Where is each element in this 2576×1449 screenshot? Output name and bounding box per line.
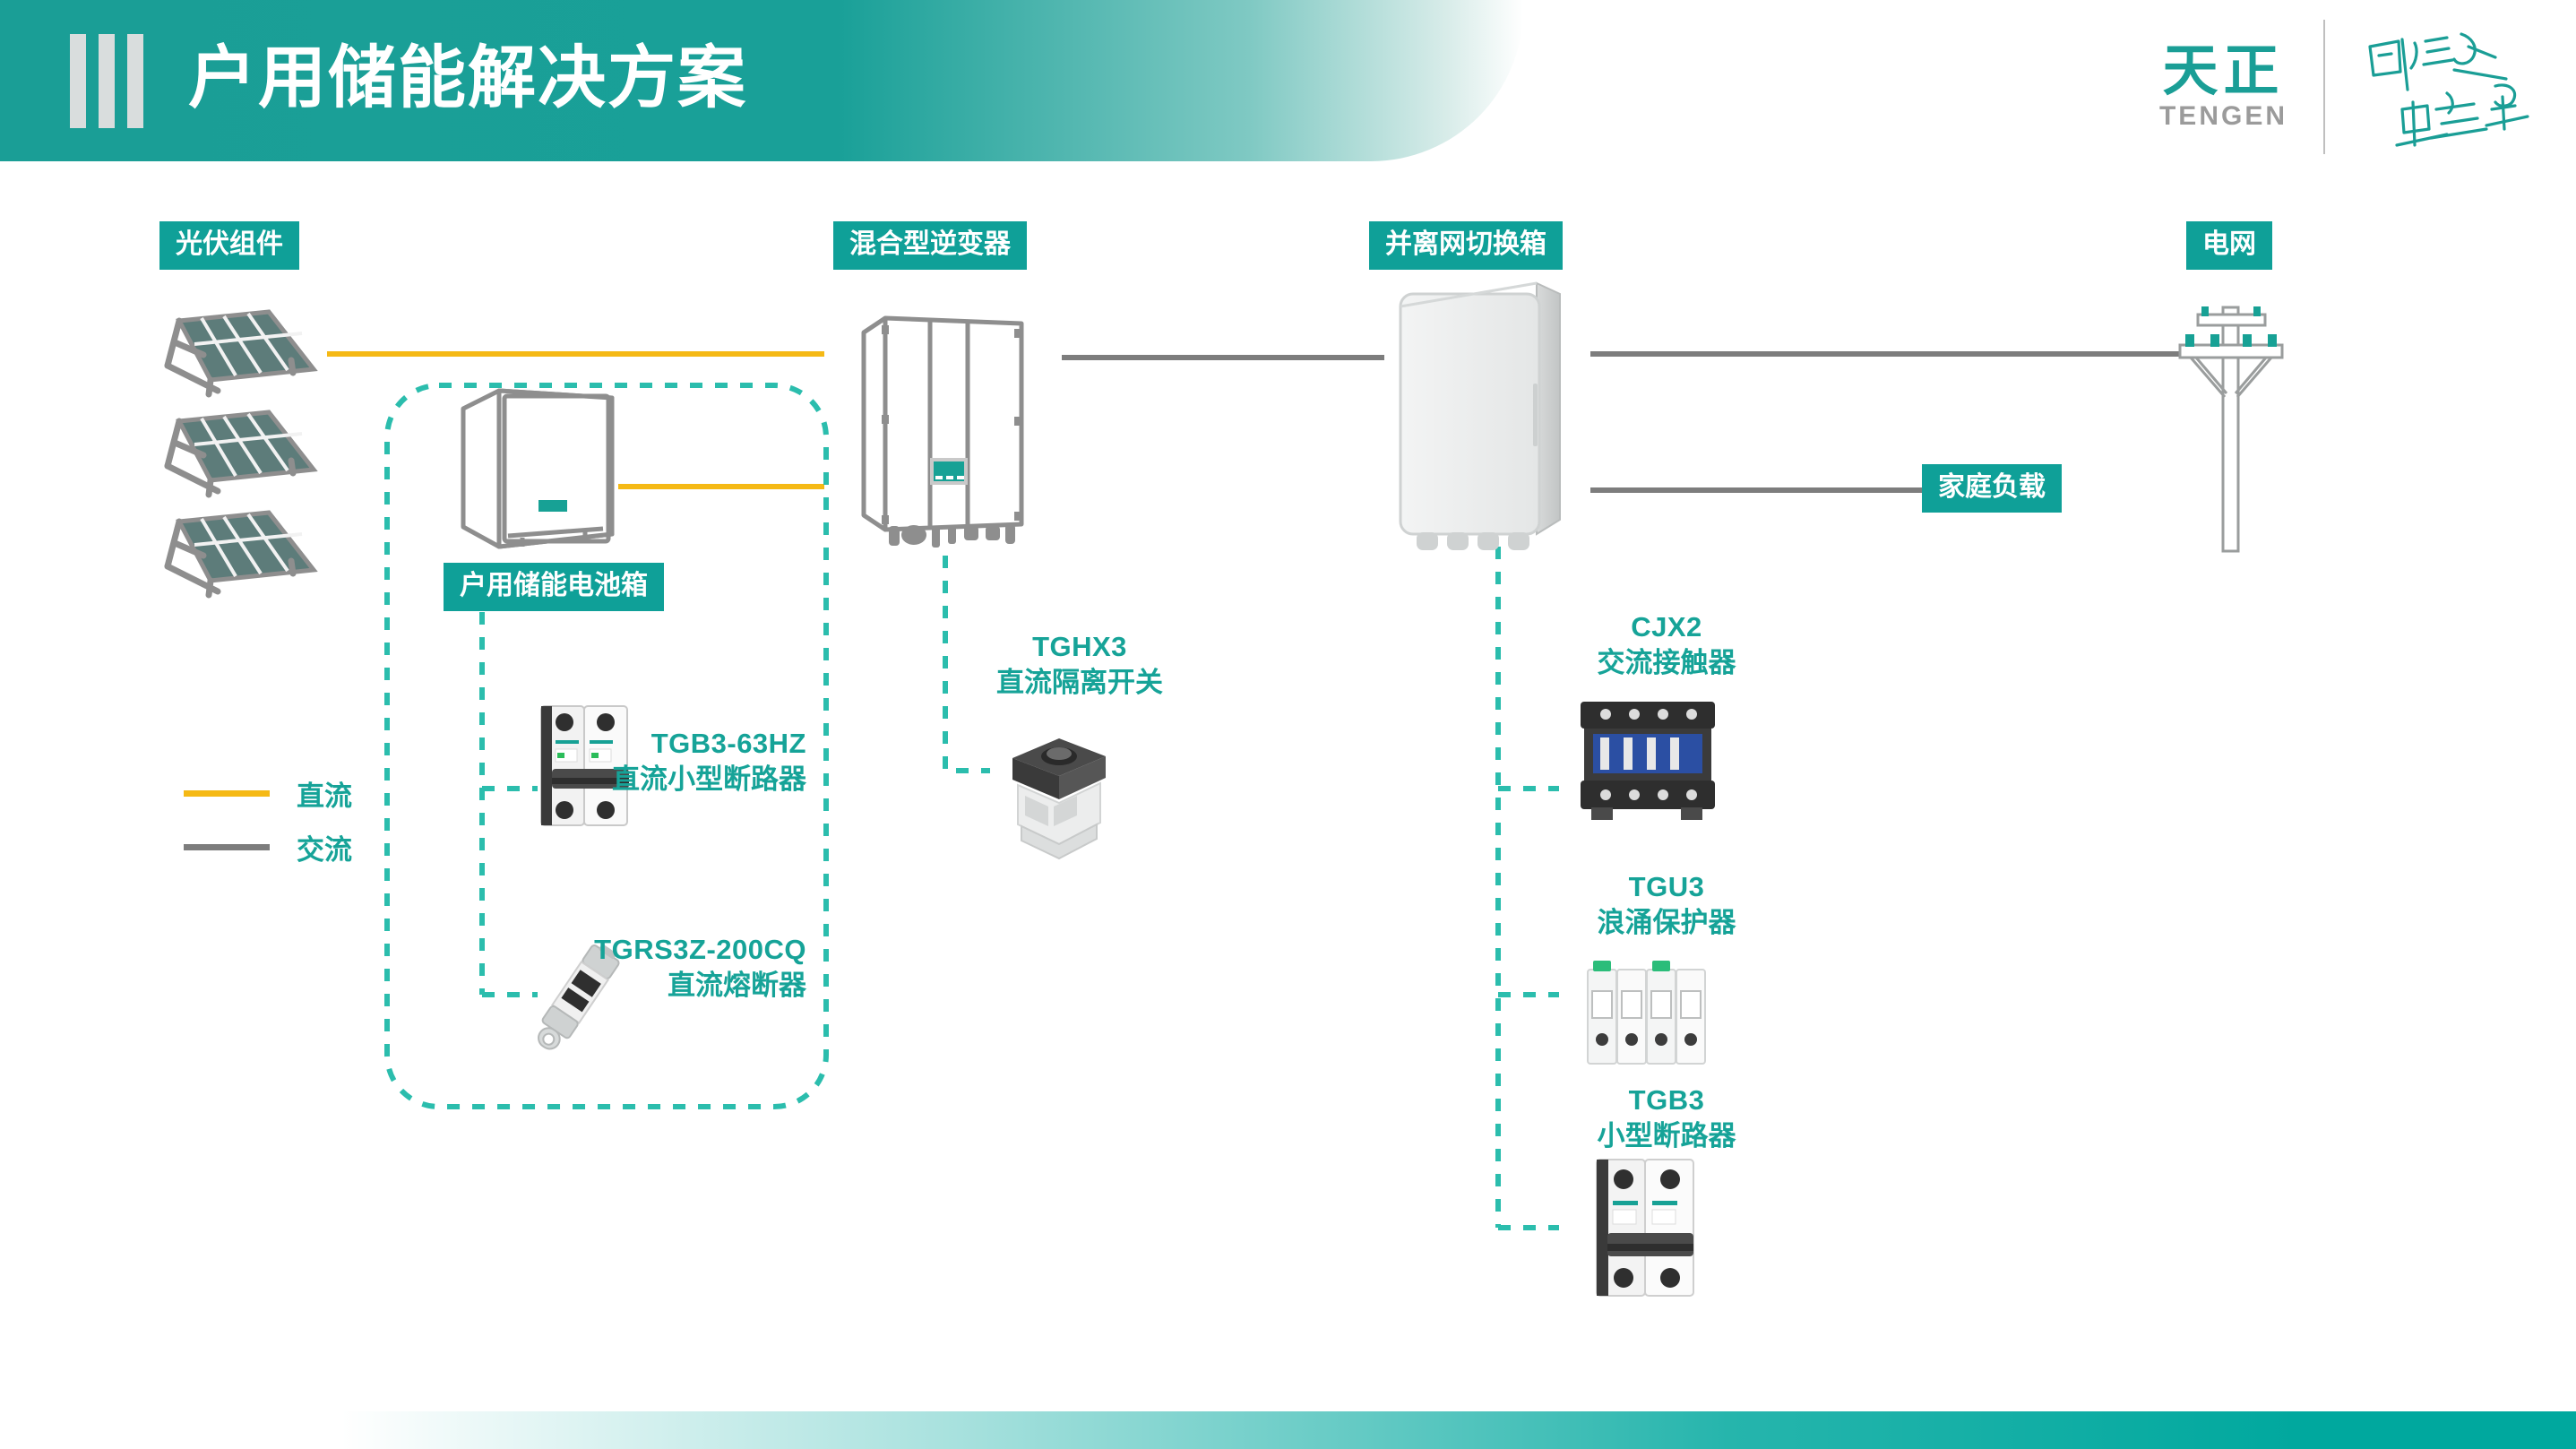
logo-divider	[2323, 20, 2325, 154]
badge-home-load: 家庭负载	[1922, 464, 2062, 513]
dc-line-battery-to-inverter	[618, 484, 824, 489]
logo-en-text: TENGEN	[2159, 101, 2287, 132]
badge-inverter: 混合型逆变器	[833, 221, 1027, 270]
legend-item-ac: 交流	[184, 820, 352, 874]
pv-panel-1	[148, 305, 318, 408]
label-tgb3-code: TGB3	[1523, 1082, 1810, 1118]
label-tgu3-cn: 浪涌保护器	[1523, 905, 1810, 941]
label-tgb3-63hz-code: TGB3-63HZ	[538, 726, 806, 762]
switch-box-illustration	[1384, 276, 1572, 558]
logo-cn-text: 天正	[2162, 42, 2284, 101]
pv-panel-3	[148, 505, 318, 608]
tghx3-product-image	[995, 726, 1124, 869]
legend: 直流 交流	[184, 766, 352, 874]
legend-label-dc: 直流	[297, 773, 352, 814]
tgu3-product-image	[1582, 950, 1712, 1075]
label-tgu3-code: TGU3	[1523, 869, 1810, 905]
ac-line-switchbox-to-load	[1590, 487, 1922, 493]
tgb3-product-image	[1588, 1154, 1704, 1307]
dc-line-pv-to-inverter	[327, 351, 824, 357]
badge-switchbox: 并离网切换箱	[1369, 221, 1563, 270]
label-tgrs3z-200cq-code: TGRS3Z-200CQ	[538, 932, 806, 968]
label-tgu3: TGU3 浪涌保护器	[1523, 869, 1810, 941]
label-tghx3-cn: 直流隔离开关	[932, 665, 1228, 701]
badge-pv: 光伏组件	[159, 221, 299, 270]
label-cjx2: CJX2 交流接触器	[1523, 609, 1810, 681]
footer-decoration	[0, 1411, 2576, 1449]
hybrid-inverter-illustration	[842, 300, 1048, 556]
three-bars-icon	[70, 34, 143, 128]
badge-grid: 电网	[2186, 221, 2272, 270]
legend-item-dc: 直流	[184, 766, 352, 820]
label-tghx3: TGHX3 直流隔离开关	[932, 629, 1228, 701]
brand-slogan-icon	[2361, 20, 2540, 154]
utility-pole-illustration	[2164, 291, 2298, 565]
ac-line-inverter-to-switchbox	[1062, 355, 1384, 360]
footer-gradient-bar	[340, 1411, 2576, 1449]
label-cjx2-cn: 交流接触器	[1523, 645, 1810, 681]
label-tghx3-code: TGHX3	[932, 629, 1228, 665]
label-tgb3-cn: 小型断路器	[1523, 1118, 1810, 1154]
cjx2-product-image	[1572, 694, 1724, 829]
pv-panel-2	[148, 405, 318, 508]
page-title: 户用储能解决方案	[188, 25, 747, 133]
ac-line-switchbox-to-grid	[1590, 351, 2182, 357]
badge-battery-box: 户用储能电池箱	[444, 563, 664, 611]
label-tgb3-63hz-cn: 直流小型断路器	[538, 762, 806, 798]
logo-mark: 天正 TENGEN	[2159, 42, 2287, 132]
label-tgb3-63hz: TGB3-63HZ 直流小型断路器	[538, 726, 806, 798]
footer-corner-block	[2343, 1411, 2576, 1449]
legend-swatch-dc	[184, 790, 270, 797]
label-tgrs3z-200cq-cn: 直流熔断器	[538, 968, 806, 1004]
dashed-connectors	[0, 0, 2576, 1449]
legend-label-ac: 交流	[297, 827, 352, 867]
legend-swatch-ac	[184, 844, 270, 850]
label-cjx2-code: CJX2	[1523, 609, 1810, 645]
battery-cabinet-illustration	[452, 384, 632, 567]
page-header: 户用储能解决方案	[0, 0, 1523, 161]
label-tgb3: TGB3 小型断路器	[1523, 1082, 1810, 1154]
brand-logo: 天正 TENGEN	[2159, 20, 2540, 154]
label-tgrs3z-200cq: TGRS3Z-200CQ 直流熔断器	[538, 932, 806, 1004]
